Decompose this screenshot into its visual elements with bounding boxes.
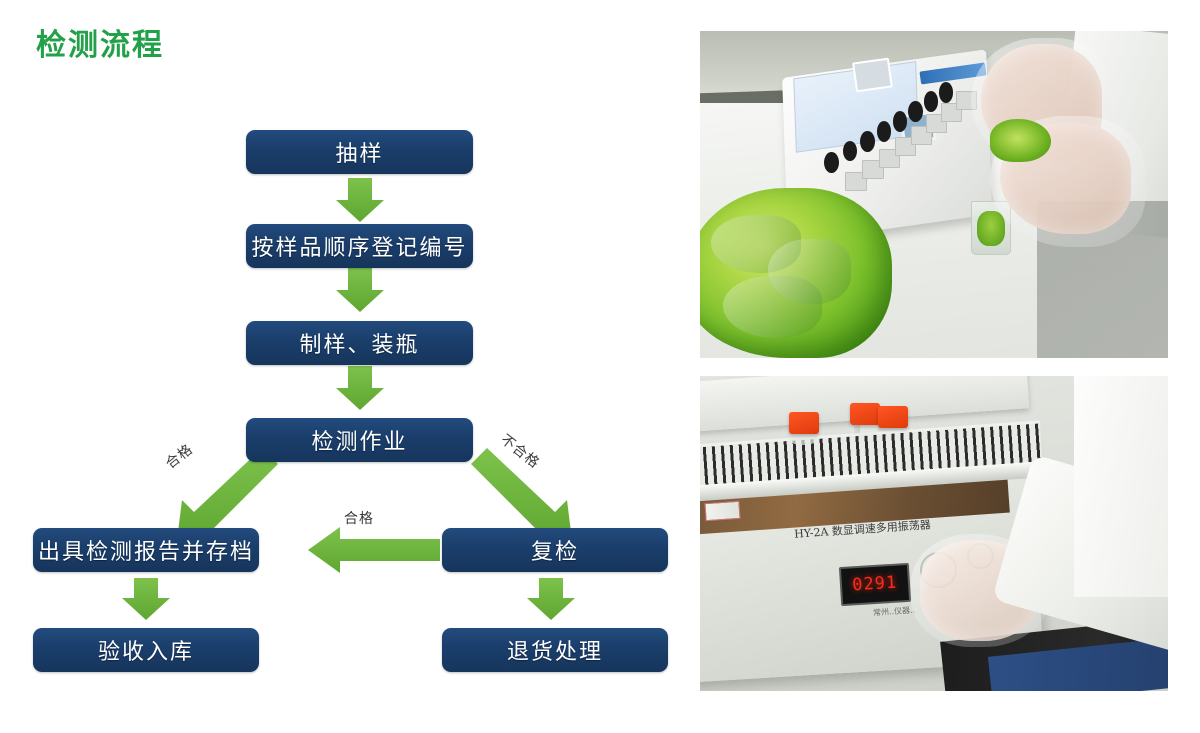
flowchart-diagram: 合格 不合格 合格 抽样 按样品顺序登记编号 制样、装瓶 检测作业 出具检测报告… [0,0,690,733]
flow-node-report[interactable]: 出具检测报告并存档 [33,528,259,572]
photo1-lettuce [700,188,892,358]
photo2-warning-sticker [704,501,740,521]
edge-label-fail: 不合格 [497,429,545,472]
flowchart-arrows [0,0,690,733]
photo2-vial-cap [878,406,908,428]
photo1-cup-contents [977,211,1005,246]
edge-label-pass-recheck: 合格 [344,508,374,528]
photo-sample-prep [700,31,1168,358]
flow-node-prepare[interactable]: 制样、装瓶 [246,321,473,365]
flow-node-testing[interactable]: 检测作业 [246,418,473,462]
photo1-well-dot [860,131,875,152]
flow-node-sampling[interactable]: 抽样 [246,130,473,174]
photo1-well-dot [824,152,839,173]
photo2-led-display: 0291 [839,563,911,606]
photo1-display-screen [853,58,894,93]
photo2-lab-coat [1074,376,1168,597]
flow-node-return[interactable]: 退货处理 [442,628,668,672]
photo2-display-value: 0291 [852,573,898,596]
arrow-report-to-accept [122,578,170,620]
photo2-vial-cap [850,403,880,425]
arrow-prepare-to-testing [336,366,384,410]
arrow-sampling-to-register [336,178,384,222]
photo2-vial-cap [789,412,819,434]
photo1-held-sample [990,119,1051,162]
photo-oscillator: HY-2A 数显调速多用振荡器 0291 常州..仪器.. [700,376,1168,691]
edge-label-pass-left: 合格 [161,439,197,473]
flow-node-accept[interactable]: 验收入库 [33,628,259,672]
arrow-recheck-to-return [527,578,575,620]
photo1-well-dot [939,82,954,103]
photo1-well-dot [908,101,923,122]
flow-node-recheck[interactable]: 复检 [442,528,668,572]
arrow-register-to-prepare [336,268,384,312]
arrow-recheck-to-report [308,527,440,573]
flow-node-register[interactable]: 按样品顺序登记编号 [246,224,473,268]
